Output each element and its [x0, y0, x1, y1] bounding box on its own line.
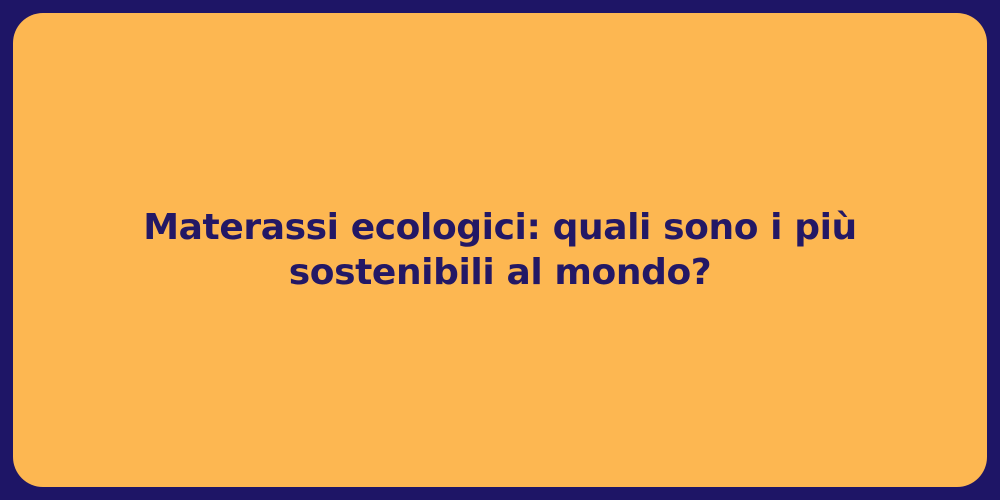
banner-panel: Materassi ecologici: quali sono i più so… — [13, 13, 987, 487]
banner-frame: Materassi ecologici: quali sono i più so… — [0, 0, 1000, 500]
banner-headline: Materassi ecologici: quali sono i più so… — [53, 205, 947, 295]
